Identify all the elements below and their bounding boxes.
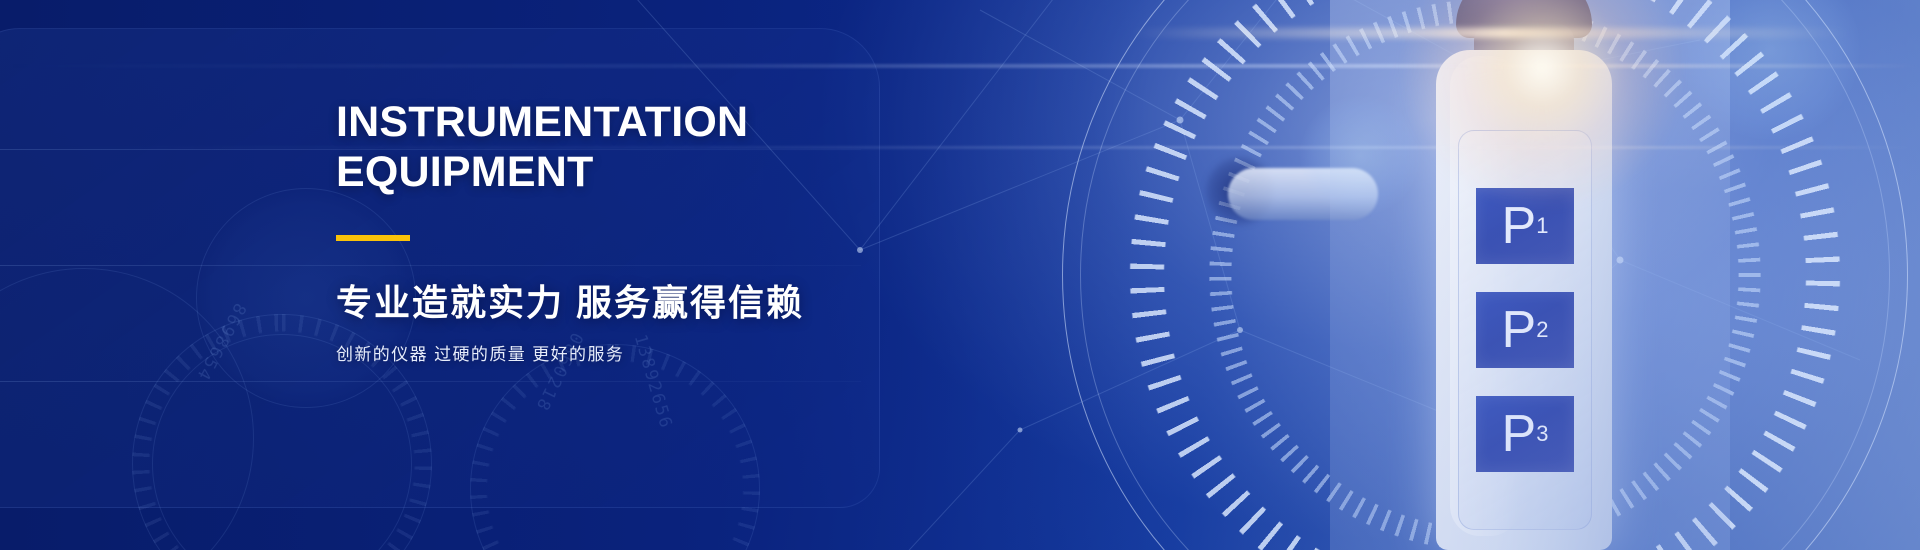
banner-title-english: INSTRUMENTATION EQUIPMENT: [336, 98, 1096, 198]
device-button-p2[interactable]: P2: [1476, 292, 1574, 368]
device-button-p3[interactable]: P3: [1476, 396, 1574, 472]
banner-headline-chinese: 专业造就实力 服务赢得信赖: [336, 274, 1096, 326]
banner-subline-chinese: 创新的仪器 过硬的质量 更好的服务: [336, 340, 1096, 365]
device-button-p3-index: 3: [1536, 421, 1548, 447]
device-button-p2-label: P: [1502, 300, 1537, 360]
banner-content: INSTRUMENTATION EQUIPMENT 专业造就实力 服务赢得信赖 …: [336, 98, 1096, 365]
device-button-p3-label: P: [1502, 404, 1537, 464]
title-line-1: INSTRUMENTATION: [336, 98, 748, 146]
hero-banner: 8698654 0860218 13892656: [0, 0, 1920, 550]
device-button-p2-index: 2: [1536, 317, 1548, 343]
yellow-divider: [336, 235, 410, 241]
title-line-2: EQUIPMENT: [336, 148, 1096, 198]
lens-flare-ghost-1: [1300, 96, 1420, 216]
